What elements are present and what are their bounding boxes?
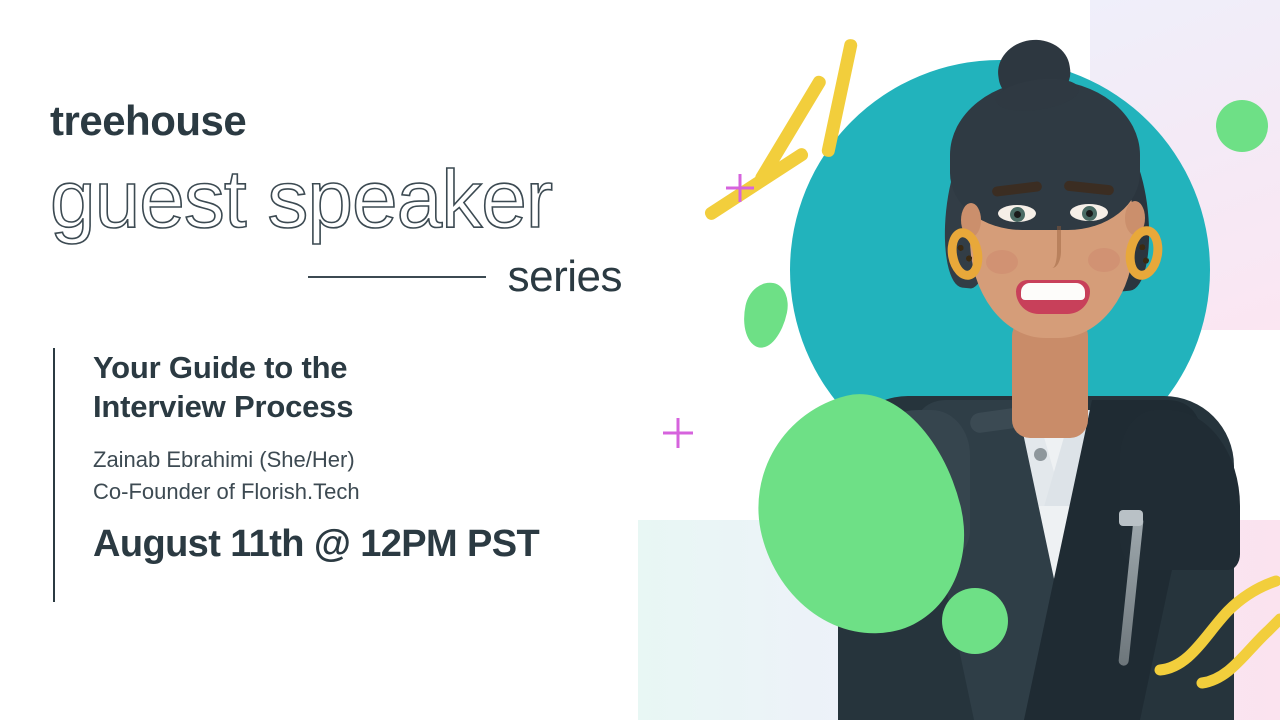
- promo-graphic: treehouse guest speaker series Your Guid…: [0, 0, 1280, 720]
- eye-right: [1070, 204, 1108, 221]
- smiling-mouth: [1016, 280, 1090, 314]
- cheek-right: [1088, 248, 1120, 272]
- jacket-zipper-pull: [1119, 510, 1143, 526]
- green-circle-blob: [942, 588, 1008, 654]
- sparkle-stroke-3: [703, 146, 811, 222]
- brand-wordmark: treehouse: [50, 100, 650, 142]
- hair-bun: [994, 35, 1074, 106]
- jacket-stud: [1034, 448, 1047, 461]
- series-divider-rule: [308, 276, 486, 278]
- event-date-time: August 11th @ 12PM PST: [93, 523, 653, 566]
- series-row: series: [50, 252, 622, 302]
- iris-left: [1010, 207, 1025, 222]
- brand-block: treehouse guest speaker series: [50, 100, 650, 302]
- nose: [1039, 226, 1061, 268]
- talk-title: Your Guide to the Interview Process: [93, 348, 653, 427]
- yellow-squiggle-lines: [1150, 575, 1280, 695]
- eye-left: [998, 205, 1036, 222]
- green-blob-small: [738, 278, 793, 351]
- event-info-block: Your Guide to the Interview Process Zain…: [53, 348, 653, 602]
- plus-mark-icon-lower: [663, 418, 693, 448]
- series-label: series: [508, 252, 622, 302]
- speaker-name: Zainab Ebrahimi (She/Her): [93, 444, 653, 476]
- program-title-outline: guest speaker: [50, 158, 650, 242]
- cheek-left: [986, 250, 1018, 274]
- green-dot-top-right: [1216, 100, 1268, 152]
- iris-right: [1082, 206, 1097, 221]
- speaker-role: Co-Founder of Florish.Tech: [93, 476, 653, 508]
- plus-mark-icon-upper: [726, 174, 754, 202]
- teeth: [1021, 283, 1085, 300]
